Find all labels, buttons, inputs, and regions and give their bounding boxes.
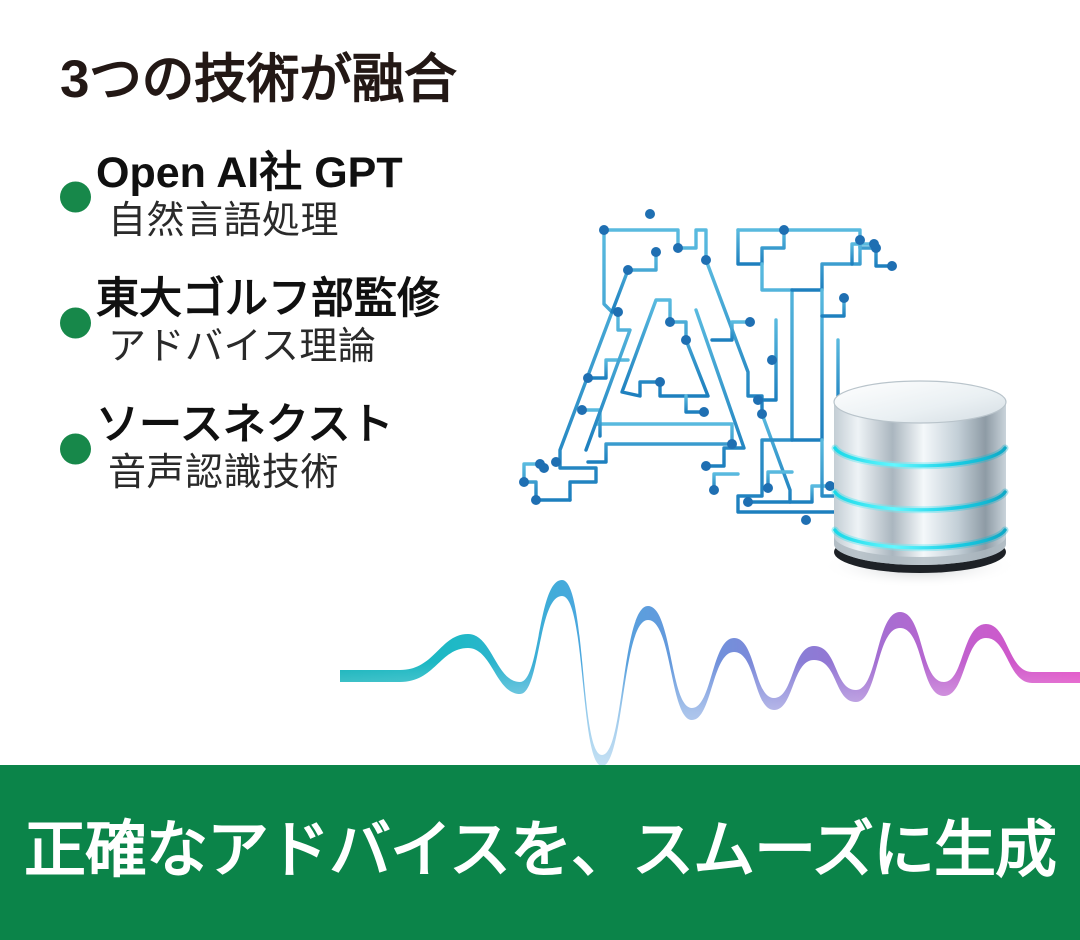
- feature-list: Open AI社 GPT 自然言語処理 東大ゴルフ部監修 アドバイス理論 ソース…: [0, 152, 560, 530]
- feature-title: Open AI社 GPT: [58, 152, 403, 195]
- list-item: Open AI社 GPT 自然言語処理: [0, 152, 560, 242]
- feature-heading-row: ソースネクスト: [0, 404, 560, 447]
- list-item: 東大ゴルフ部監修 アドバイス理論: [0, 278, 560, 368]
- feature-title: 東大ゴルフ部監修: [58, 278, 440, 321]
- green-dot-icon: [60, 307, 91, 338]
- bottom-banner: 正確なアドバイスを、スムーズに生成: [0, 765, 1080, 940]
- green-dot-icon: [60, 433, 91, 464]
- feature-heading-row: Open AI社 GPT: [0, 152, 560, 195]
- sound-waveform-icon: [340, 550, 1080, 770]
- feature-heading-row: 東大ゴルフ部監修: [0, 278, 560, 321]
- promo-poster: 3つの技術が融合 Open AI社 GPT 自然言語処理 東大ゴルフ部監修 アド…: [0, 0, 1080, 940]
- list-item: ソースネクスト 音声認識技術: [0, 404, 560, 494]
- page-title: 3つの技術が融合: [60, 53, 456, 106]
- green-dot-icon: [60, 181, 91, 212]
- artwork-group: [480, 150, 1080, 770]
- feature-title: ソースネクスト: [58, 404, 394, 447]
- banner-headline: 正確なアドバイスを、スムーズに生成: [24, 820, 1056, 882]
